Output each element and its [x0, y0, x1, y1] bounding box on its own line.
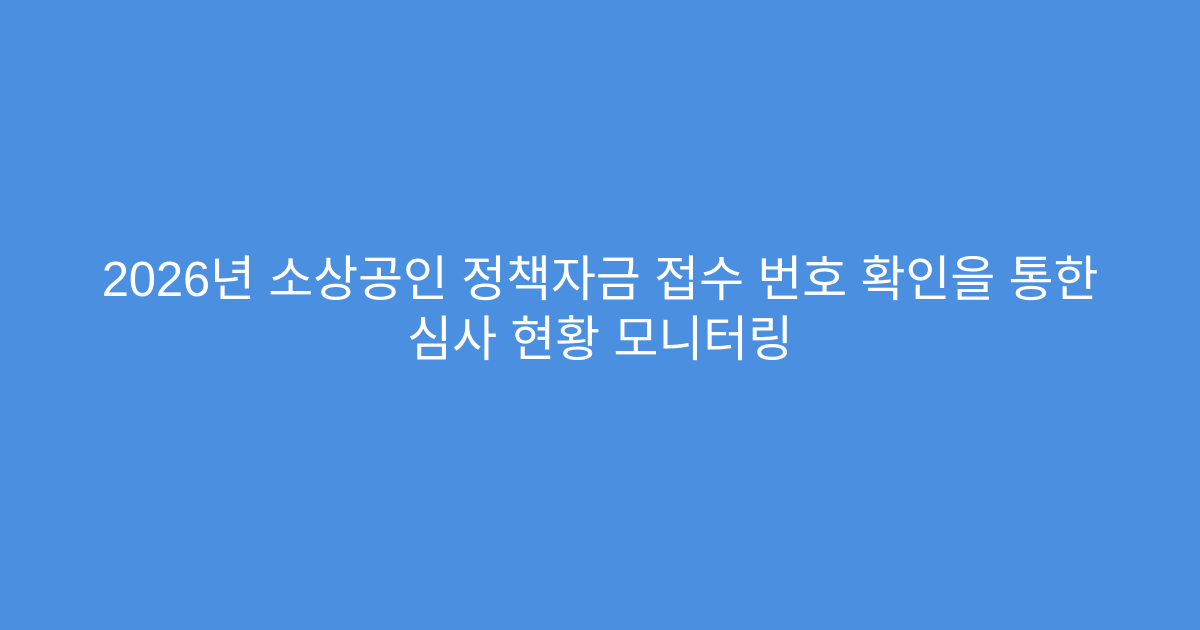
banner-content: 2026년 소상공인 정책자금 접수 번호 확인을 통한 심사 현황 모니터링	[80, 250, 1120, 370]
page-title: 2026년 소상공인 정책자금 접수 번호 확인을 통한 심사 현황 모니터링	[80, 250, 1120, 370]
banner-card: 2026년 소상공인 정책자금 접수 번호 확인을 통한 심사 현황 모니터링	[0, 0, 1200, 630]
